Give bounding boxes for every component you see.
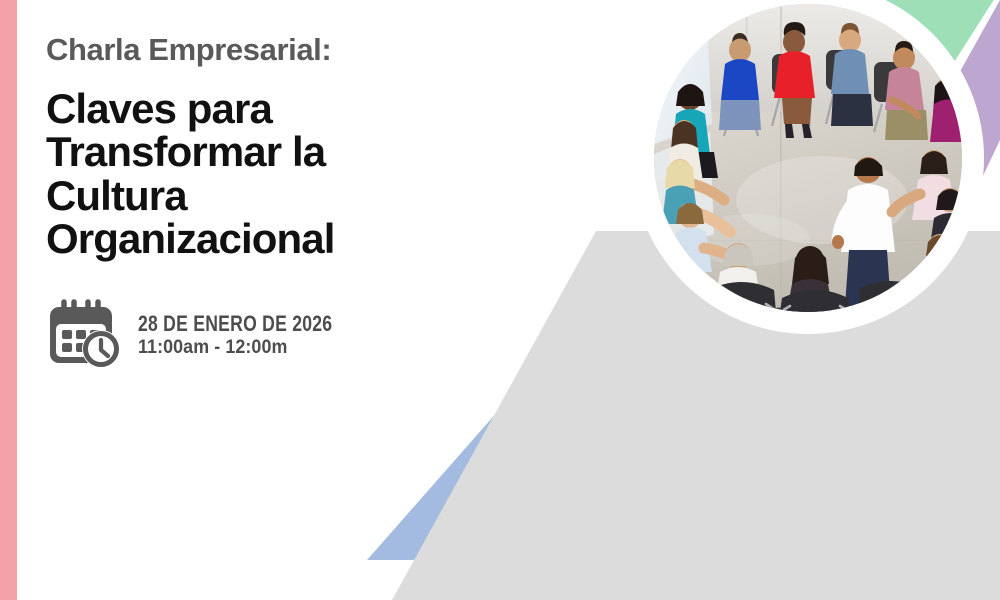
left-pink-stripe [0,0,17,600]
group-discussion-illustration [654,4,962,312]
text-column: Charla Empresarial: Claves para Transfor… [46,34,506,260]
headline-line-4: Organizacional [46,217,506,260]
headline-line-2: Transformar la [46,130,506,173]
calendar-clock-icon [46,298,124,372]
headline-line-1: Claves para [46,87,506,130]
event-time: 11:00am - 12:00m [138,338,366,358]
group-discussion-photo [654,4,962,312]
headline-line-3: Cultura [46,174,506,217]
eyebrow-label: Charla Empresarial: [46,34,506,65]
page-title: Claves para Transformar la Cultura Organ… [46,87,506,260]
event-datetime-block: 28 DE ENERO DE 2026 11:00am - 12:00m [46,298,381,372]
datetime-text: 28 DE ENERO DE 2026 11:00am - 12:00m [138,312,381,358]
event-banner: Charla Empresarial: Claves para Transfor… [0,0,1000,600]
event-date: 28 DE ENERO DE 2026 [138,312,332,335]
